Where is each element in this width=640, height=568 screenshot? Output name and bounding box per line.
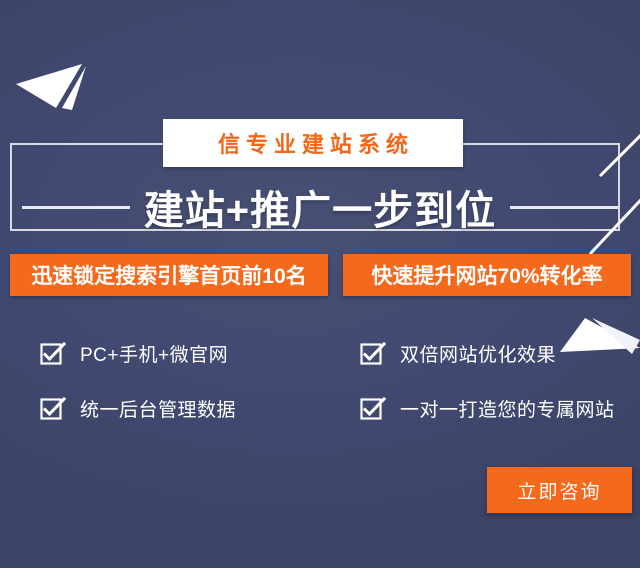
highlight-strip-left: 迅速锁定搜索引擎首页前10名 [10, 254, 328, 296]
badge-label: 信专业建站系统 [212, 127, 414, 159]
feature-list: PC+手机+微官网 双倍网站优化效果 统一后台管理数据 [0, 326, 640, 436]
page-title: 建站+推广一步到位 [144, 178, 496, 236]
checkbox-checked-icon [360, 398, 382, 420]
checkbox-checked-icon [40, 343, 62, 365]
feature-item-label: 统一后台管理数据 [80, 395, 236, 422]
consult-now-button[interactable]: 立即咨询 [487, 467, 632, 513]
feature-item-label: 双倍网站优化效果 [400, 340, 556, 367]
feature-item: 一对一打造您的专属网站 [320, 381, 640, 436]
headline-rule-right [510, 206, 618, 209]
highlight-strip-left-label: 迅速锁定搜索引擎首页前10名 [31, 260, 306, 290]
headline-rule-left [22, 206, 130, 209]
highlight-strip-right-label: 快速提升网站70%转化率 [371, 260, 602, 290]
feature-item-label: 一对一打造您的专属网站 [400, 395, 615, 422]
checkbox-checked-icon [360, 343, 382, 365]
feature-item: 统一后台管理数据 [0, 381, 320, 436]
paper-plane-icon-top-left [16, 64, 86, 110]
headline-row: 建站+推广一步到位 [0, 178, 640, 236]
feature-item: PC+手机+微官网 [0, 326, 320, 381]
feature-item: 双倍网站优化效果 [320, 326, 640, 381]
badge: 信专业建站系统 [163, 119, 463, 167]
promo-banner: 信专业建站系统 建站+推广一步到位 迅速锁定搜索引擎首页前10名 快速提升网站7… [0, 0, 640, 568]
checkbox-checked-icon [40, 398, 62, 420]
highlight-strip-right: 快速提升网站70%转化率 [343, 254, 631, 296]
feature-item-label: PC+手机+微官网 [80, 340, 228, 367]
